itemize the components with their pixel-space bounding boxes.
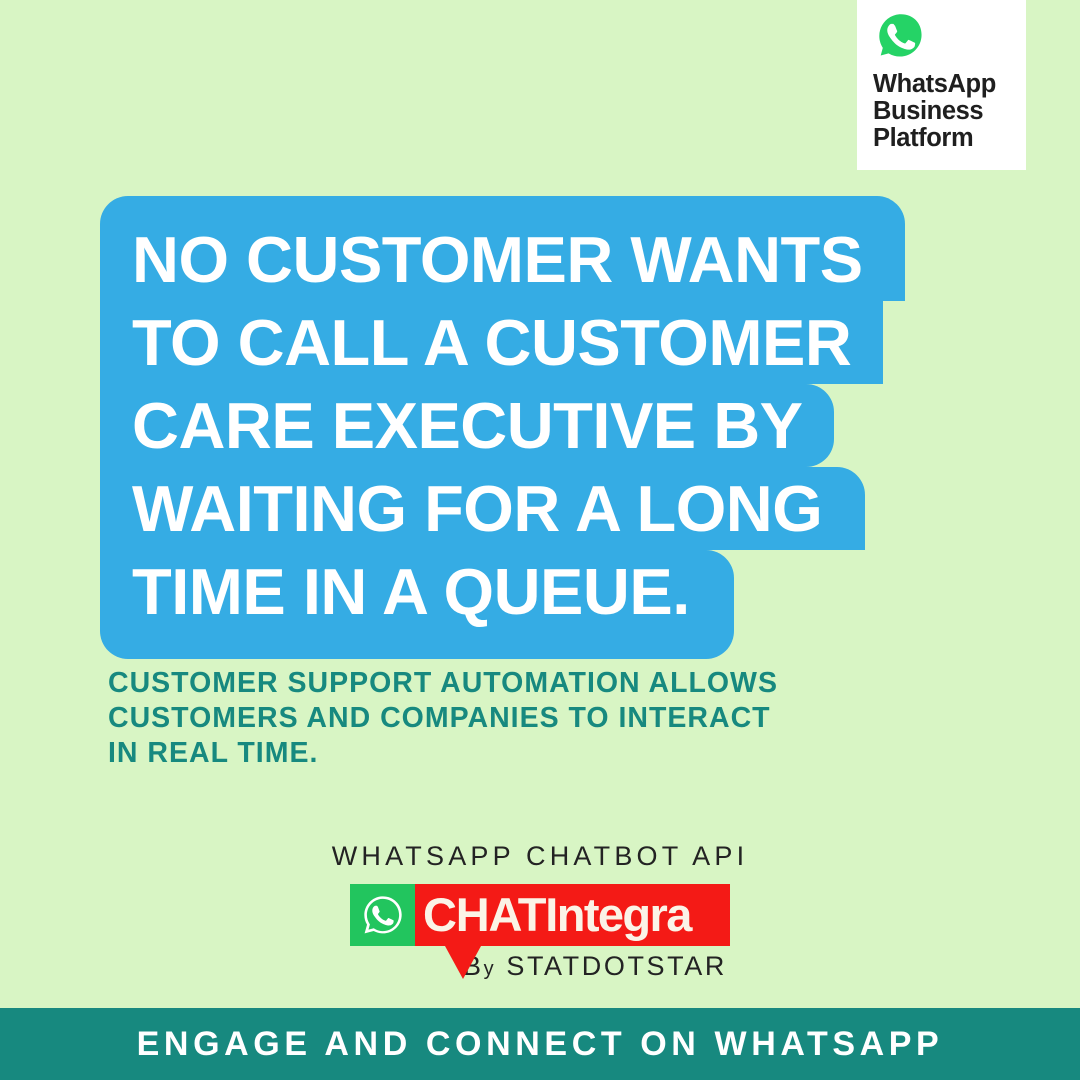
subheadline-line-2: CUSTOMERS AND COMPANIES TO INTERACT — [108, 701, 908, 736]
subheadline-line-3: IN REAL TIME. — [108, 736, 908, 771]
brand-lockup: WHATSAPP CHATBOT API CHATIntegra By STAT… — [0, 840, 1080, 985]
logo-wordmark-panel: CHATIntegra — [415, 884, 730, 946]
footer-text: ENGAGE AND CONNECT ON WHATSAPP — [137, 1025, 944, 1064]
badge-line-2: Business — [873, 98, 1026, 125]
logo-word-chat: CHAT — [423, 888, 545, 941]
logo-word-integra: Integra — [545, 888, 691, 941]
subheadline-line-1: CUSTOMER SUPPORT AUTOMATION ALLOWS — [108, 666, 908, 701]
logo-pointer-triangle — [445, 946, 481, 979]
logo-wordmark: CHATIntegra — [423, 891, 691, 939]
headline-line-4: WAITING FOR A LONG — [100, 467, 865, 550]
headline-line-5: TIME IN A QUEUE. — [100, 550, 734, 659]
byline-spacer — [496, 951, 506, 981]
chatintegra-logo: CHATIntegra — [350, 884, 730, 946]
poster-canvas: WhatsApp Business Platform NO CUSTOMER W… — [0, 0, 1080, 1080]
whatsapp-icon — [873, 8, 929, 64]
logo-icon-tile — [350, 884, 415, 946]
badge-text-block: WhatsApp Business Platform — [873, 71, 1026, 152]
badge-line-1: WhatsApp — [873, 71, 1026, 98]
byline-small-y: y — [484, 958, 497, 980]
headline-line-1: NO CUSTOMER WANTS — [100, 196, 905, 301]
lockup-byline: By STATDOTSTAR — [0, 950, 1080, 985]
headline-line-3: CARE EXECUTIVE BY — [100, 384, 834, 467]
badge-line-3: Platform — [873, 125, 1026, 152]
footer-banner: ENGAGE AND CONNECT ON WHATSAPP — [0, 1008, 1080, 1080]
byline-brand: STATDOTSTAR — [506, 951, 727, 981]
subheadline-block: CUSTOMER SUPPORT AUTOMATION ALLOWS CUSTO… — [108, 666, 908, 771]
whatsapp-business-platform-badge: WhatsApp Business Platform — [857, 0, 1026, 170]
lockup-kicker: WHATSAPP CHATBOT API — [0, 840, 1080, 872]
headline-line-2: TO CALL A CUSTOMER — [100, 301, 883, 384]
whatsapp-icon — [360, 892, 406, 938]
headline-block: NO CUSTOMER WANTS TO CALL A CUSTOMER CAR… — [100, 196, 950, 659]
